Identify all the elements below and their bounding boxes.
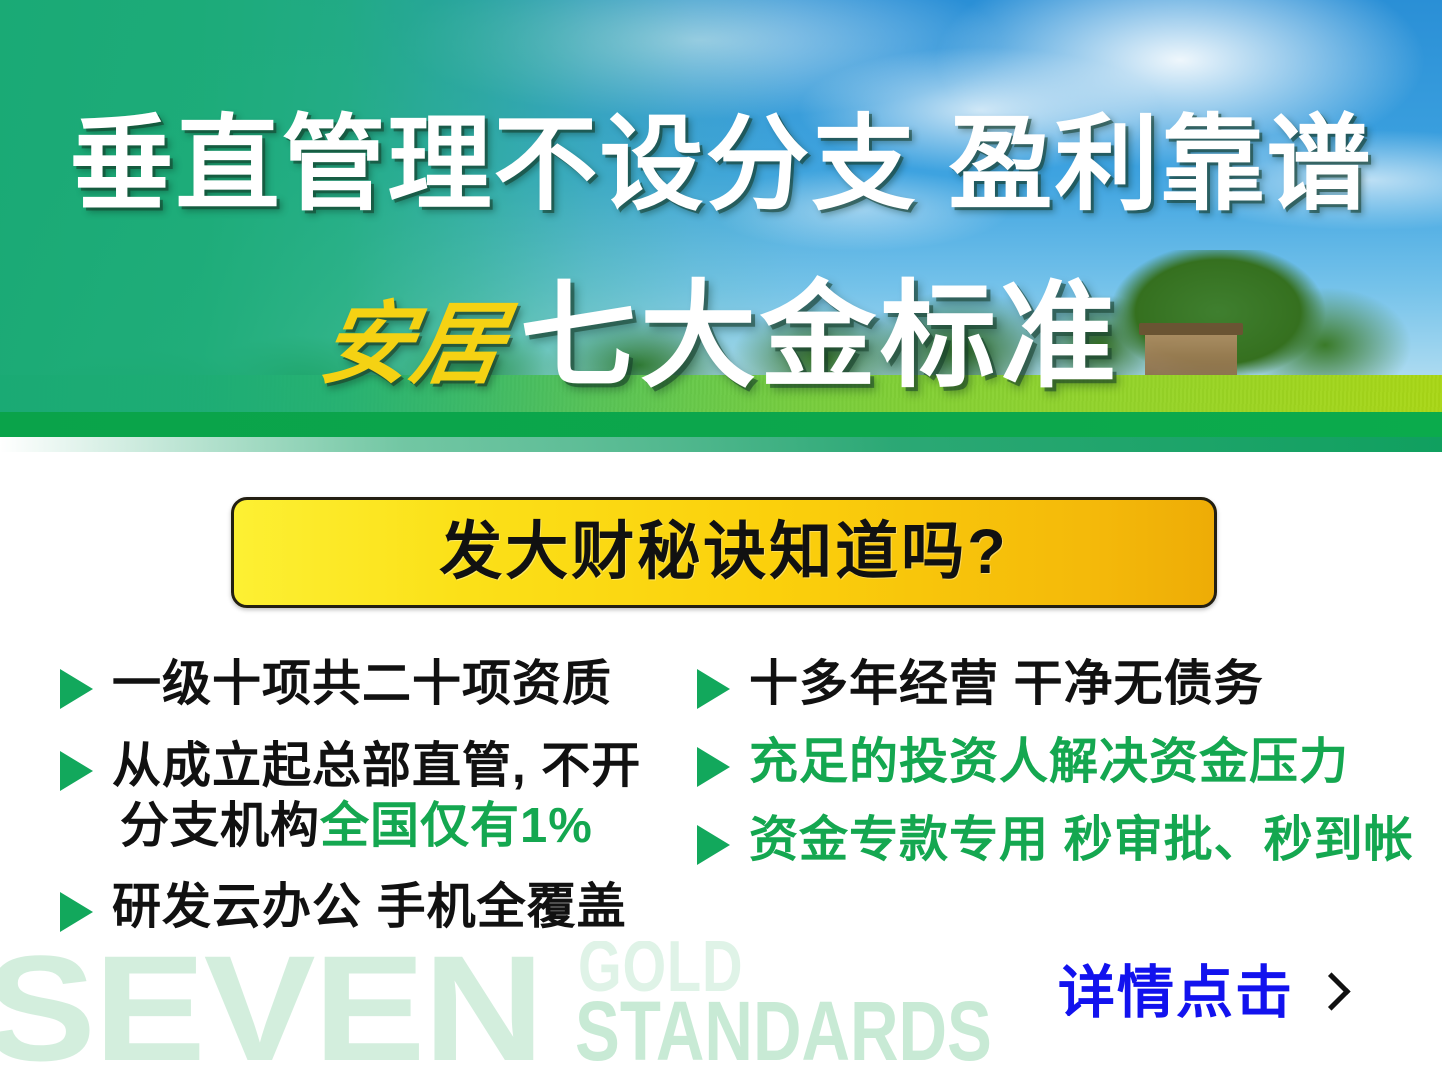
feature-text: 研发云办公 手机全覆盖: [112, 878, 627, 938]
feature-line-1: 资金专款专用 秒审批、秒到帐: [749, 813, 1414, 867]
triangle-right-icon: [60, 751, 93, 791]
hero-green-band: [0, 412, 1442, 437]
feature-text: 一级十项共二十项资质: [112, 655, 612, 715]
brand-name-label: 安居: [315, 300, 511, 390]
feature-text: 资金专款专用 秒审批、秒到帐: [749, 811, 1414, 871]
details-link-label: 详情点击: [1058, 965, 1294, 1022]
triangle-right-icon: [697, 825, 730, 865]
secondary-headline-row: 安居 七大金标准: [0, 278, 1442, 394]
triangle-right-icon: [60, 892, 93, 932]
watermark-word-standards: STANDARDS: [575, 989, 992, 1066]
feature-item: 研发云办公 手机全覆盖: [60, 878, 680, 938]
feature-text: 充足的投资人解决资金压力: [749, 733, 1349, 793]
feature-text: 十多年经营 干净无债务: [749, 655, 1264, 715]
feature-line-1: 充足的投资人解决资金压力: [749, 735, 1349, 789]
feature-line-1: 一级十项共二十项资质: [112, 657, 612, 711]
hero-section: 垂直管理不设分支 盈利靠谱 安居 七大金标准: [0, 0, 1442, 462]
feature-highlight: 全国仅有1%: [320, 799, 593, 853]
feature-line-1: 从成立起总部直管, 不开: [112, 739, 641, 793]
feature-lists: 一级十项共二十项资质 从成立起总部直管, 不开 分支机构全国仅有1% 研发云办公…: [0, 655, 1442, 995]
triangle-right-icon: [697, 747, 730, 787]
feature-column-right: 十多年经营 干净无债务 充足的投资人解决资金压力 资金专款专用 秒审批、秒到帐: [697, 655, 1397, 888]
advertisement-banner: 垂直管理不设分支 盈利靠谱 安居 七大金标准 发大财秘诀知道吗? SEVEN G…: [0, 0, 1442, 1066]
cta-banner-text: 发大财秘诀知道吗?: [439, 521, 1008, 584]
triangle-right-icon: [697, 669, 730, 709]
hero-white-strip: [0, 452, 1442, 462]
primary-headline: 垂直管理不设分支 盈利靠谱: [0, 113, 1442, 217]
details-link[interactable]: 详情点击: [1058, 965, 1342, 1022]
feature-text: 从成立起总部直管, 不开 分支机构全国仅有1%: [112, 737, 641, 857]
feature-item: 十多年经营 干净无债务: [697, 655, 1397, 715]
chevron-right-icon: [1316, 972, 1342, 1016]
feature-item: 从成立起总部直管, 不开 分支机构全国仅有1%: [60, 737, 680, 857]
secondary-headline: 七大金标准: [520, 278, 1120, 394]
feature-line-1: 十多年经营 干净无债务: [749, 657, 1264, 711]
feature-line-1: 研发云办公 手机全覆盖: [112, 880, 627, 934]
triangle-right-icon: [60, 669, 93, 709]
feature-item: 充足的投资人解决资金压力: [697, 733, 1397, 793]
hero-fade-strip: [0, 437, 1442, 452]
feature-column-left: 一级十项共二十项资质 从成立起总部直管, 不开 分支机构全国仅有1% 研发云办公…: [60, 655, 680, 960]
cta-banner[interactable]: 发大财秘诀知道吗?: [231, 497, 1217, 608]
feature-line-2: 分支机构: [120, 799, 320, 853]
feature-item: 资金专款专用 秒审批、秒到帐: [697, 811, 1397, 871]
feature-item: 一级十项共二十项资质: [60, 655, 680, 715]
feature-line-2-wrap: 分支机构全国仅有1%: [120, 797, 641, 857]
